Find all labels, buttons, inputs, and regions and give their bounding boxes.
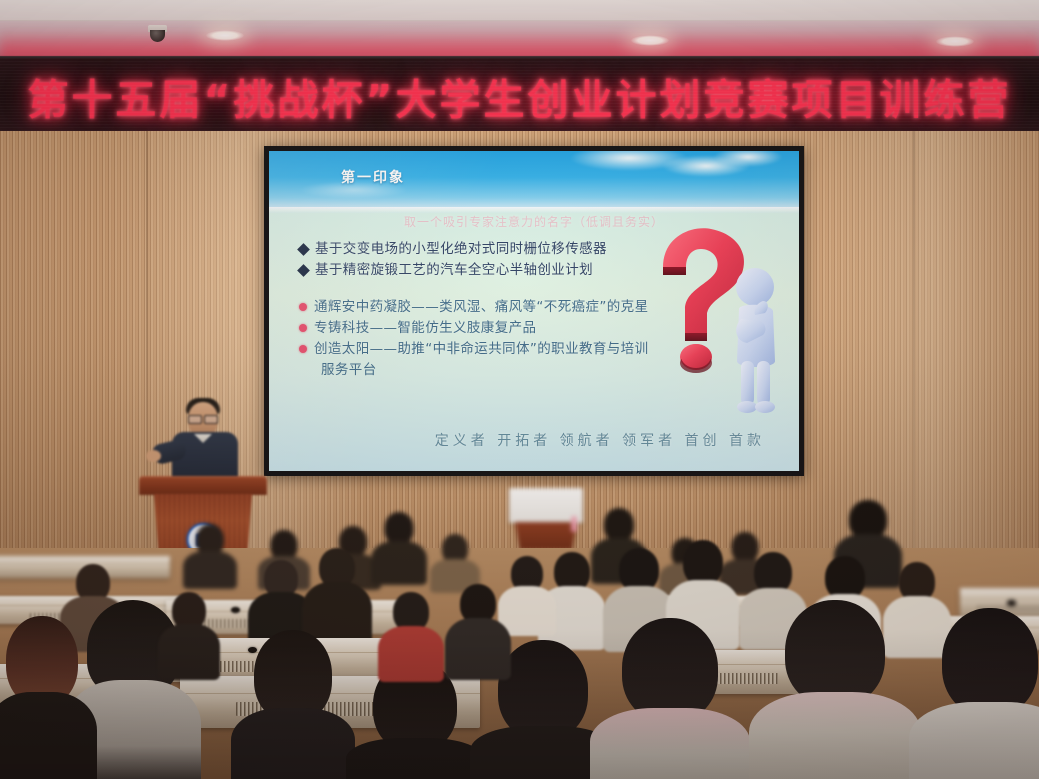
dot-bullet-icon: [299, 324, 307, 332]
led-banner: 第十五届“挑战杯”大学生创业计划竞赛项目训练营: [0, 56, 1039, 135]
downlight-icon: [631, 35, 669, 46]
camera-dome: [150, 30, 165, 42]
banner-title-text: 第十五届“挑战杯”大学生创业计划竞赛项目训练营: [0, 65, 1039, 125]
projection-screen-frame: 第一印象 取一个吸引专家注意力的名字（低调且务实） 基于交变电场的小型化绝对式同…: [264, 146, 804, 476]
slide-bullet-list: 基于交变电场的小型化绝对式同时栅位移传感器 基于精密旋锻工艺的汽车全空心半轴创业…: [299, 239, 679, 380]
dot-bullet-icon: [299, 345, 307, 353]
glasses-icon: [188, 415, 218, 422]
ceiling-soffit: [0, 0, 1039, 21]
bullet-text: 基于精密旋锻工艺的汽车全空心半轴创业计划: [315, 260, 593, 280]
front-table: [509, 488, 583, 550]
audience-member: [920, 608, 1039, 779]
audience-member: [160, 592, 218, 676]
audience-member: [372, 512, 426, 582]
thinking-figure-icon: [723, 265, 789, 415]
lectern-top: [139, 476, 267, 495]
diamond-bullet-icon: [297, 264, 310, 277]
dome-security-camera-icon: [148, 25, 167, 42]
audience-member: [448, 584, 508, 676]
lecture-hall-photo: 第十五届“挑战杯”大学生创业计划竞赛项目训练营 第一印象 取一个吸引专家注意力的…: [0, 0, 1039, 779]
bullet-item: 通辉安中药凝胶——类风湿、痛风等“不死癌症”的克星: [299, 297, 679, 317]
water-bottle: [571, 516, 577, 532]
dot-bullet-icon: [299, 303, 307, 311]
bullet-item: 基于交变电场的小型化绝对式同时栅位移传感器: [299, 239, 679, 259]
audience-member: [430, 534, 480, 588]
bullet-text: 通辉安中药凝胶——类风湿、痛风等“不死癌症”的克星: [314, 297, 649, 317]
bullet-text: 专铸科技——智能仿生义肢康复产品: [314, 318, 536, 338]
audience-member: [760, 600, 910, 779]
front-table-base: [515, 522, 577, 550]
downlight-icon: [936, 36, 974, 47]
bullet-text: 创造太阳——助推“中非命运共同体”的职业教育与培训: [314, 339, 649, 359]
audience-member: [600, 618, 740, 779]
slide-bullet-group-two: 通辉安中药凝胶——类风湿、痛风等“不死癌症”的克星 专铸科技——智能仿生义肢康复…: [299, 297, 679, 380]
bullet-item: 专铸科技——智能仿生义肢康复产品: [299, 318, 679, 338]
audience-member: [500, 556, 554, 630]
audience-member: [238, 630, 348, 779]
wall-panel-seam: [913, 131, 915, 551]
diamond-bullet-icon: [297, 243, 310, 256]
bullet-continuation-text: 服务平台: [299, 360, 679, 380]
audience-member: [0, 616, 90, 779]
slide-section-label: 第一印象: [341, 167, 405, 187]
presenter-hand: [146, 450, 161, 462]
audience-member: [184, 524, 236, 584]
projection-screen: 第一印象 取一个吸引专家注意力的名字（低调且务实） 基于交变电场的小型化绝对式同…: [269, 151, 799, 471]
bullet-item: 创造太阳——助推“中非命运共同体”的职业教育与培训: [299, 339, 679, 359]
slide-footer-text: 定义者 开拓者 领航者 领军者 首创 首款: [435, 430, 765, 450]
audience-member: [380, 592, 442, 678]
slide-artwork: [643, 223, 793, 423]
bullet-text: 基于交变电场的小型化绝对式同时栅位移传感器: [315, 239, 607, 259]
downlight-icon: [206, 30, 244, 41]
bullet-item: 基于精密旋锻工艺的汽车全空心半轴创业计划: [299, 260, 679, 280]
